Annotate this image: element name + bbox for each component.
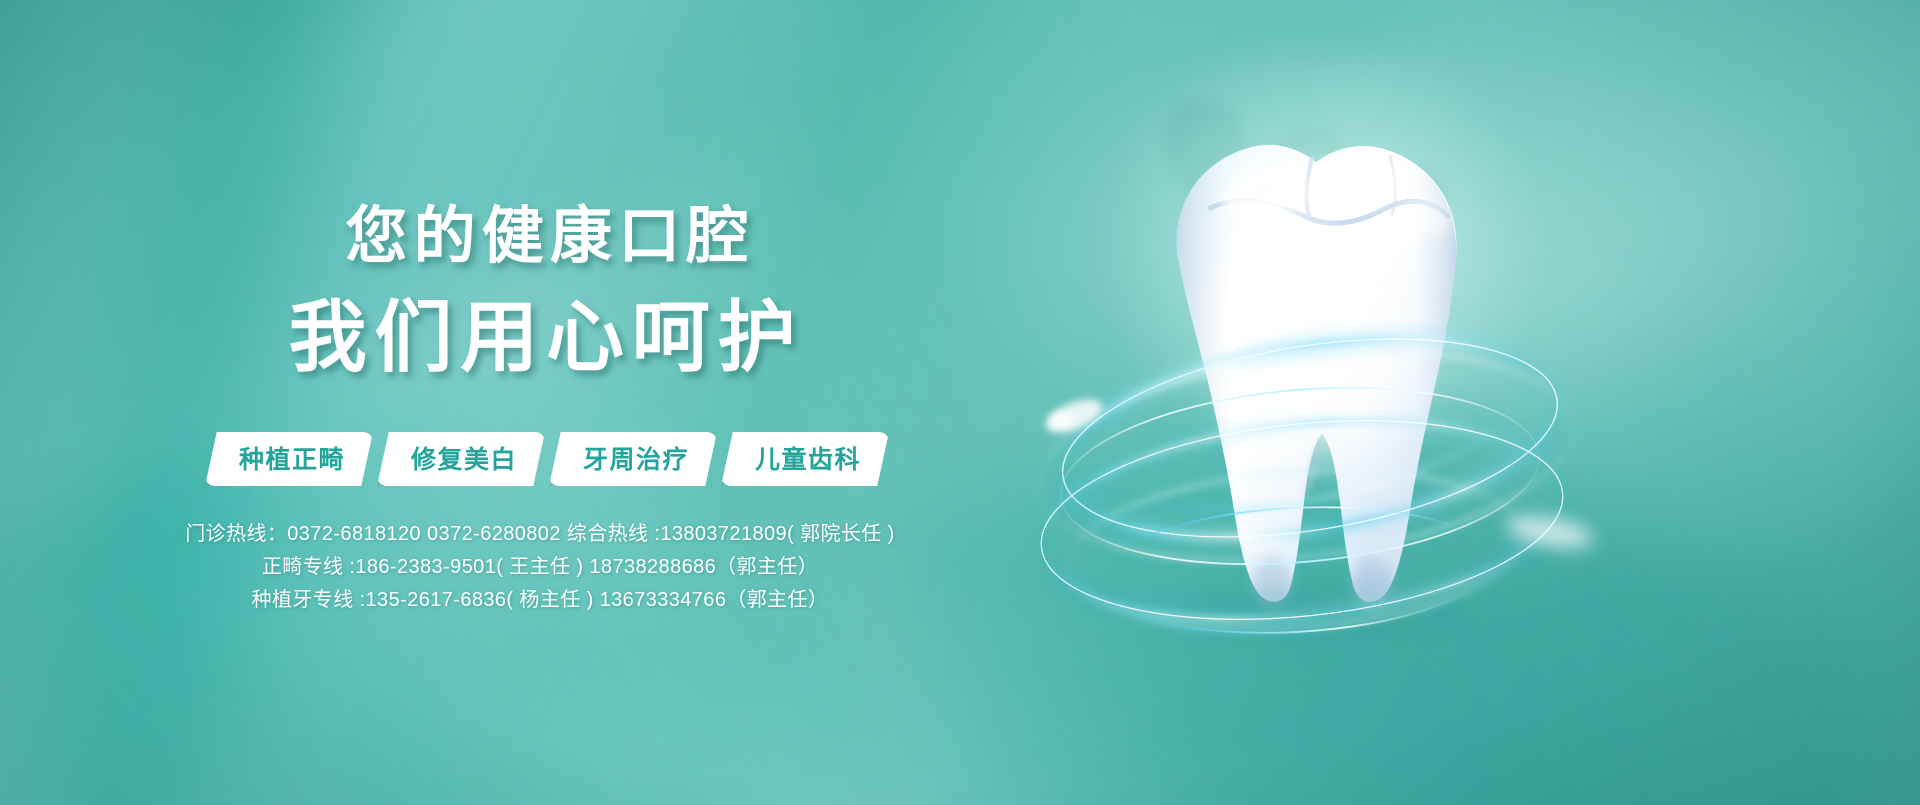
tooth-artwork (1060, 90, 1580, 650)
contact-info-block: 门诊热线：0372-6818120 0372-6280802 综合热线 :138… (0, 518, 1080, 617)
service-pill-list: 种植正畸 修复美白 牙周治疗 儿童齿科 (0, 432, 1080, 486)
service-pill-0[interactable]: 种植正畸 (205, 432, 373, 486)
banner-content: 您的健康口腔 我们用心呵护 种植正畸 修复美白 牙周治疗 儿童齿科 门诊热线：0… (0, 0, 1080, 805)
service-pill-1[interactable]: 修复美白 (377, 432, 545, 486)
service-pill-label: 牙周治疗 (583, 440, 689, 476)
service-pill-label: 儿童齿科 (755, 440, 861, 476)
contact-line-2: 正畸专线 :186-2383-9501( 王主任 ) 18738288686（郭… (0, 551, 1080, 584)
dental-clinic-banner: 您的健康口腔 我们用心呵护 种植正畸 修复美白 牙周治疗 儿童齿科 门诊热线：0… (0, 0, 1920, 805)
headline-line-2: 我们用心呵护 (0, 298, 1080, 376)
service-pill-3[interactable]: 儿童齿科 (721, 432, 889, 486)
service-pill-label: 修复美白 (411, 440, 517, 476)
service-pill-label: 种植正畸 (239, 440, 345, 476)
service-pill-2[interactable]: 牙周治疗 (549, 432, 717, 486)
headline-line-1: 您的健康口腔 (0, 206, 1080, 268)
contact-line-3: 种植牙专线 :135-2617-6836( 杨主任 ) 13673334766（… (0, 584, 1080, 617)
contact-line-1: 门诊热线：0372-6818120 0372-6280802 综合热线 :138… (0, 518, 1080, 551)
molar-tooth-icon (1060, 90, 1580, 650)
